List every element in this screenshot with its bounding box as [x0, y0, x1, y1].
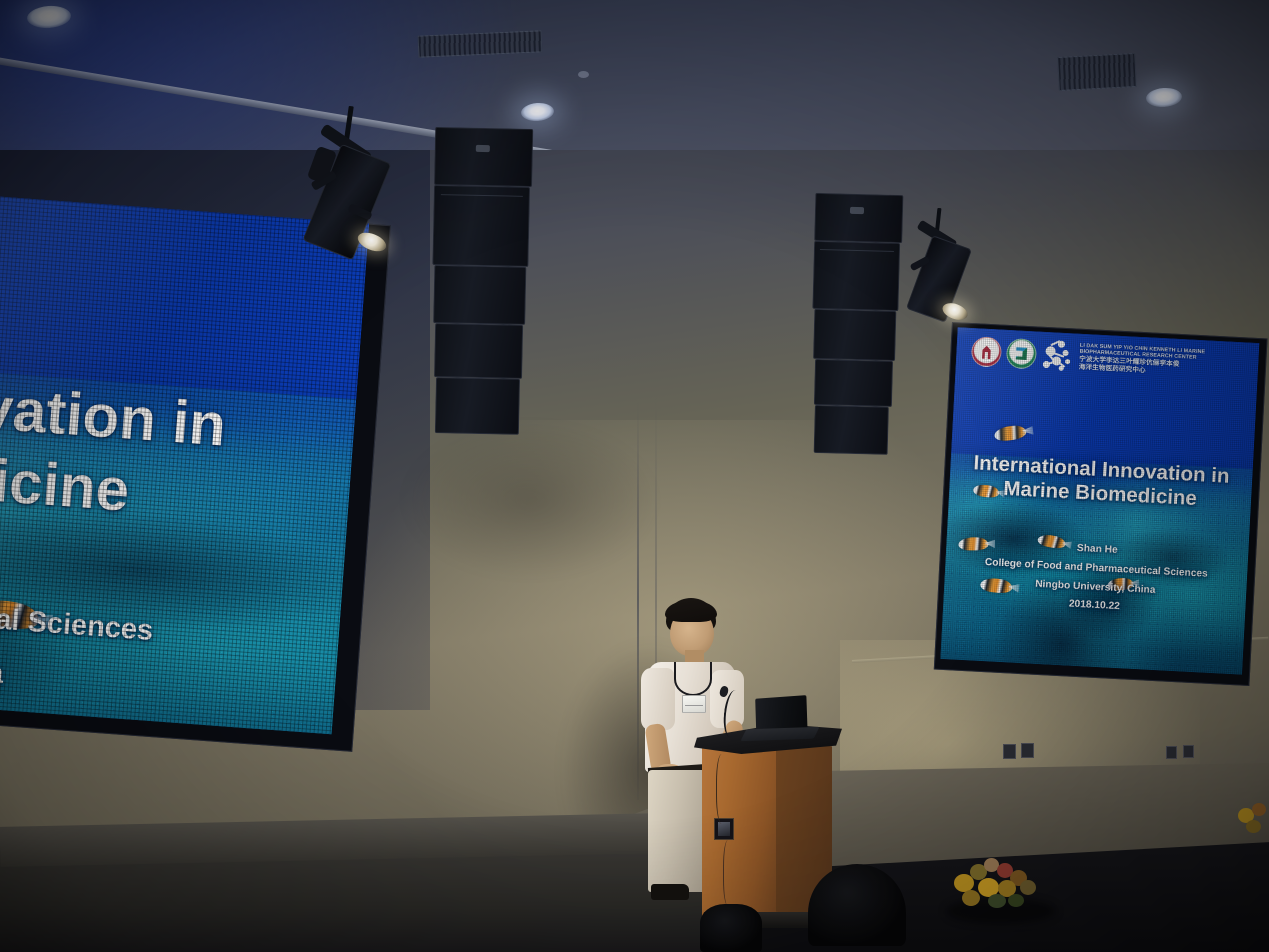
slide-content-right: LI DAK SUM YIP YIO CHIN KENNETH LI MARIN…: [940, 327, 1259, 674]
lanyard: [674, 662, 712, 696]
wall-power-outlet: [1166, 746, 1177, 759]
right-screen-display: LI DAK SUM YIP YIO CHIN KENNETH LI MARIN…: [940, 327, 1259, 674]
power-cable: [723, 840, 735, 906]
presenter-hair-top: [665, 600, 717, 622]
spotlight-lens: [355, 229, 389, 255]
power-cable: [716, 754, 730, 824]
recessed-downlight: [520, 102, 554, 122]
ceiling-air-vent: [1057, 53, 1137, 91]
research-institute-seal: [1006, 338, 1038, 370]
left-led-wall[interactable]: LI DAK SUM YIP YIO CHIN KENNETH LI MARIN…: [0, 196, 391, 752]
presenter-badge: [682, 695, 706, 713]
wall-power-outlet: [1183, 745, 1194, 758]
recessed-downlight: [1145, 87, 1182, 108]
dark-object-foreground: [700, 904, 762, 952]
slide-title: International Innovation in Marine Biome…: [0, 319, 369, 550]
conference-photo-scene: LI DAK SUM YIP YIO CHIN KENNETH LI MARIN…: [0, 0, 1269, 952]
ningbo-university-seal: [971, 336, 1003, 368]
slide-content-left: LI DAK SUM YIP YIO CHIN KENNETH LI MARIN…: [0, 196, 369, 734]
presenter-shoe: [651, 884, 689, 900]
presenter-trousers: [648, 770, 706, 892]
speaker-stack-wall-shadow: [400, 420, 660, 580]
stage-spotlight-right: [908, 212, 980, 328]
research-center-name: LI DAK SUM YIP YIO CHIN KENNETH LI MARIN…: [1079, 343, 1206, 378]
left-screen-display: LI DAK SUM YIP YIO CHIN KENNETH LI MARIN…: [0, 196, 369, 734]
presentation-laptop[interactable]: [755, 695, 807, 731]
line-array-speaker-stack-right: [809, 193, 906, 457]
left-screen-slide-crop: LI DAK SUM YIP YIO CHIN KENNETH LI MARIN…: [0, 196, 369, 734]
presenter-sleeve-left: [641, 668, 675, 730]
wall-power-outlet: [1003, 744, 1016, 759]
flower-arrangement: [1236, 800, 1269, 840]
ceiling-air-vent: [418, 30, 543, 57]
slide-presenter-block: Shan He College of Food and Pharmaceutic…: [943, 533, 1249, 624]
smoke-detector: [578, 71, 589, 78]
line-array-speaker-stack-left: [429, 127, 536, 441]
wall-power-outlet: [1021, 743, 1034, 758]
stage-spotlight-left: [306, 112, 402, 262]
molecule-network-icon: [1041, 339, 1076, 373]
flower-arrangement: [948, 854, 1056, 910]
right-led-screen[interactable]: LI DAK SUM YIP YIO CHIN KENNETH LI MARIN…: [934, 322, 1268, 686]
clownfish: [994, 425, 1027, 443]
